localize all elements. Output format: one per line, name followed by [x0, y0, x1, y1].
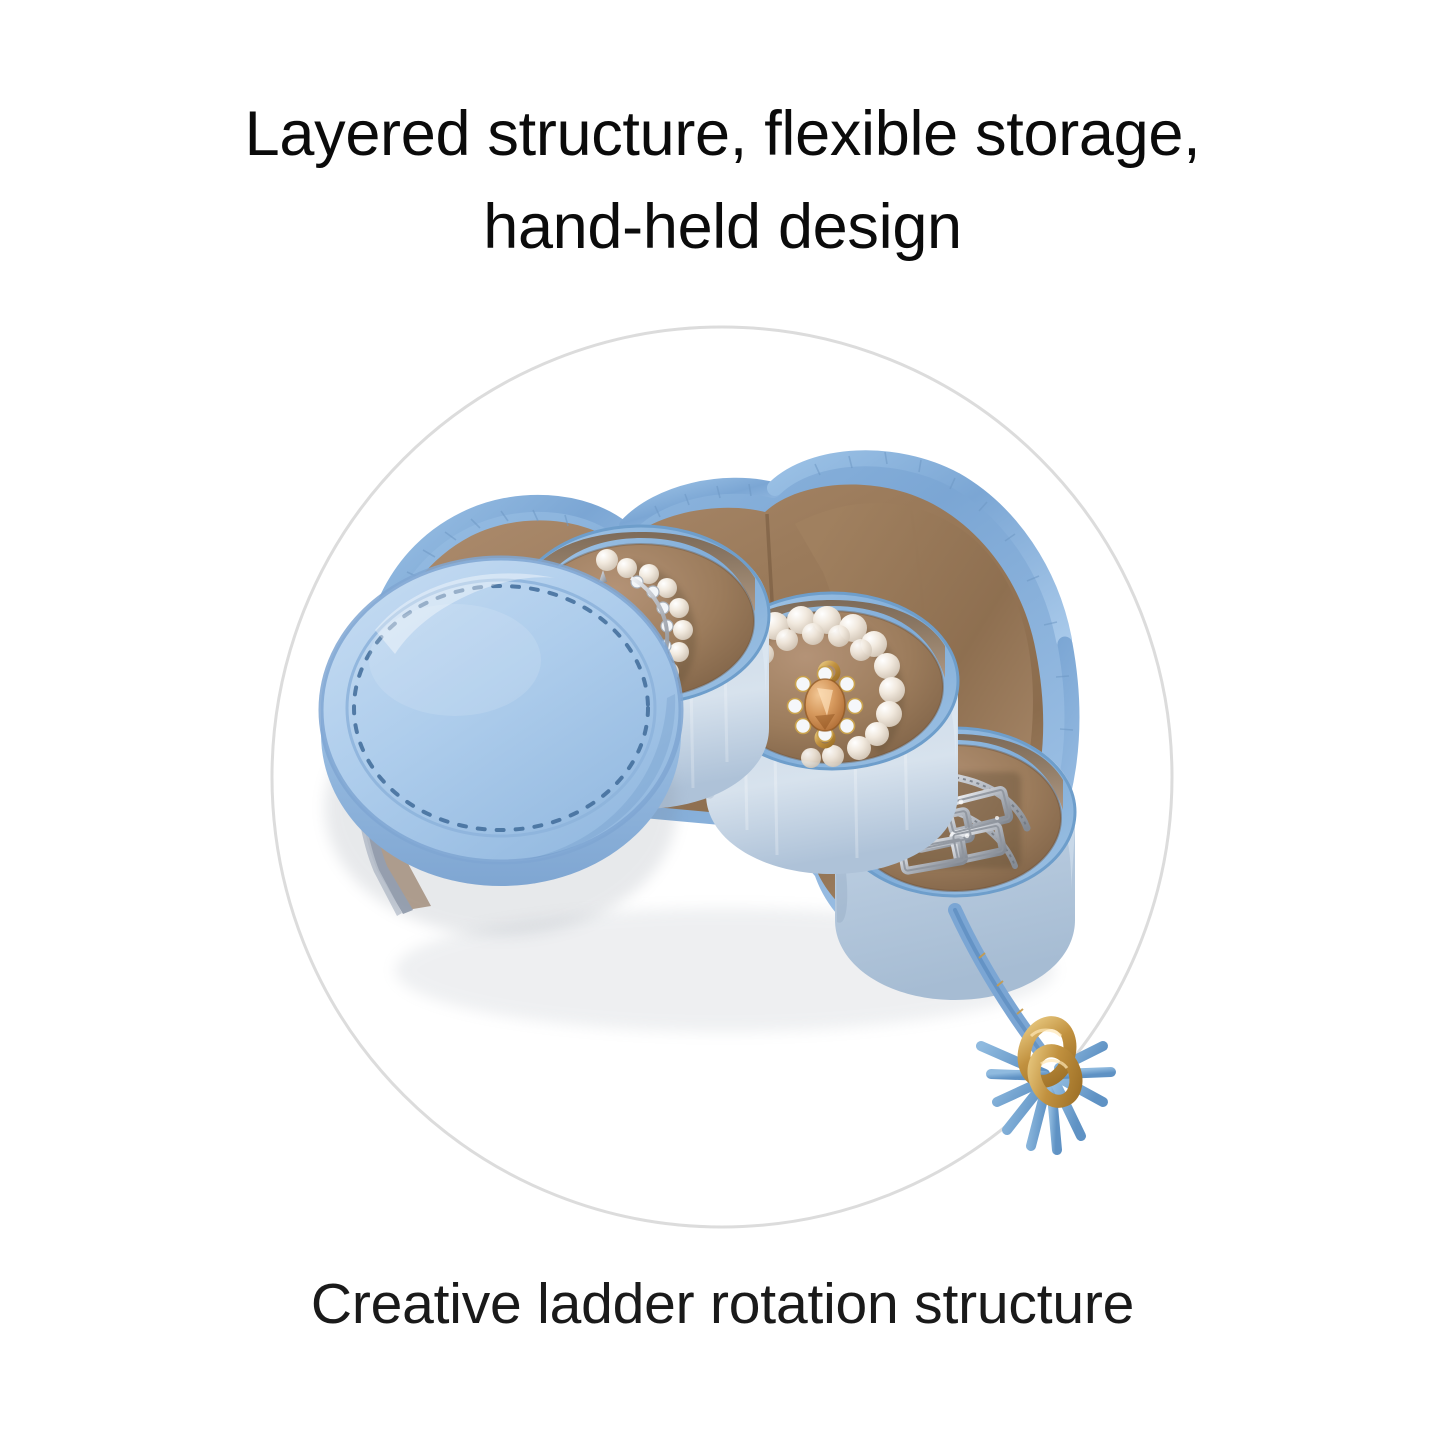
- image-caption: Creative ladder rotation structure: [0, 1270, 1445, 1338]
- product-feature-card: Layered structure, flexible storage, han…: [0, 0, 1445, 1445]
- page-title: Layered structure, flexible storage, han…: [0, 88, 1445, 274]
- product-image: [255, 310, 1190, 1245]
- amber-gem-pendant: [788, 667, 863, 742]
- lid-disc[interactable]: [321, 558, 681, 936]
